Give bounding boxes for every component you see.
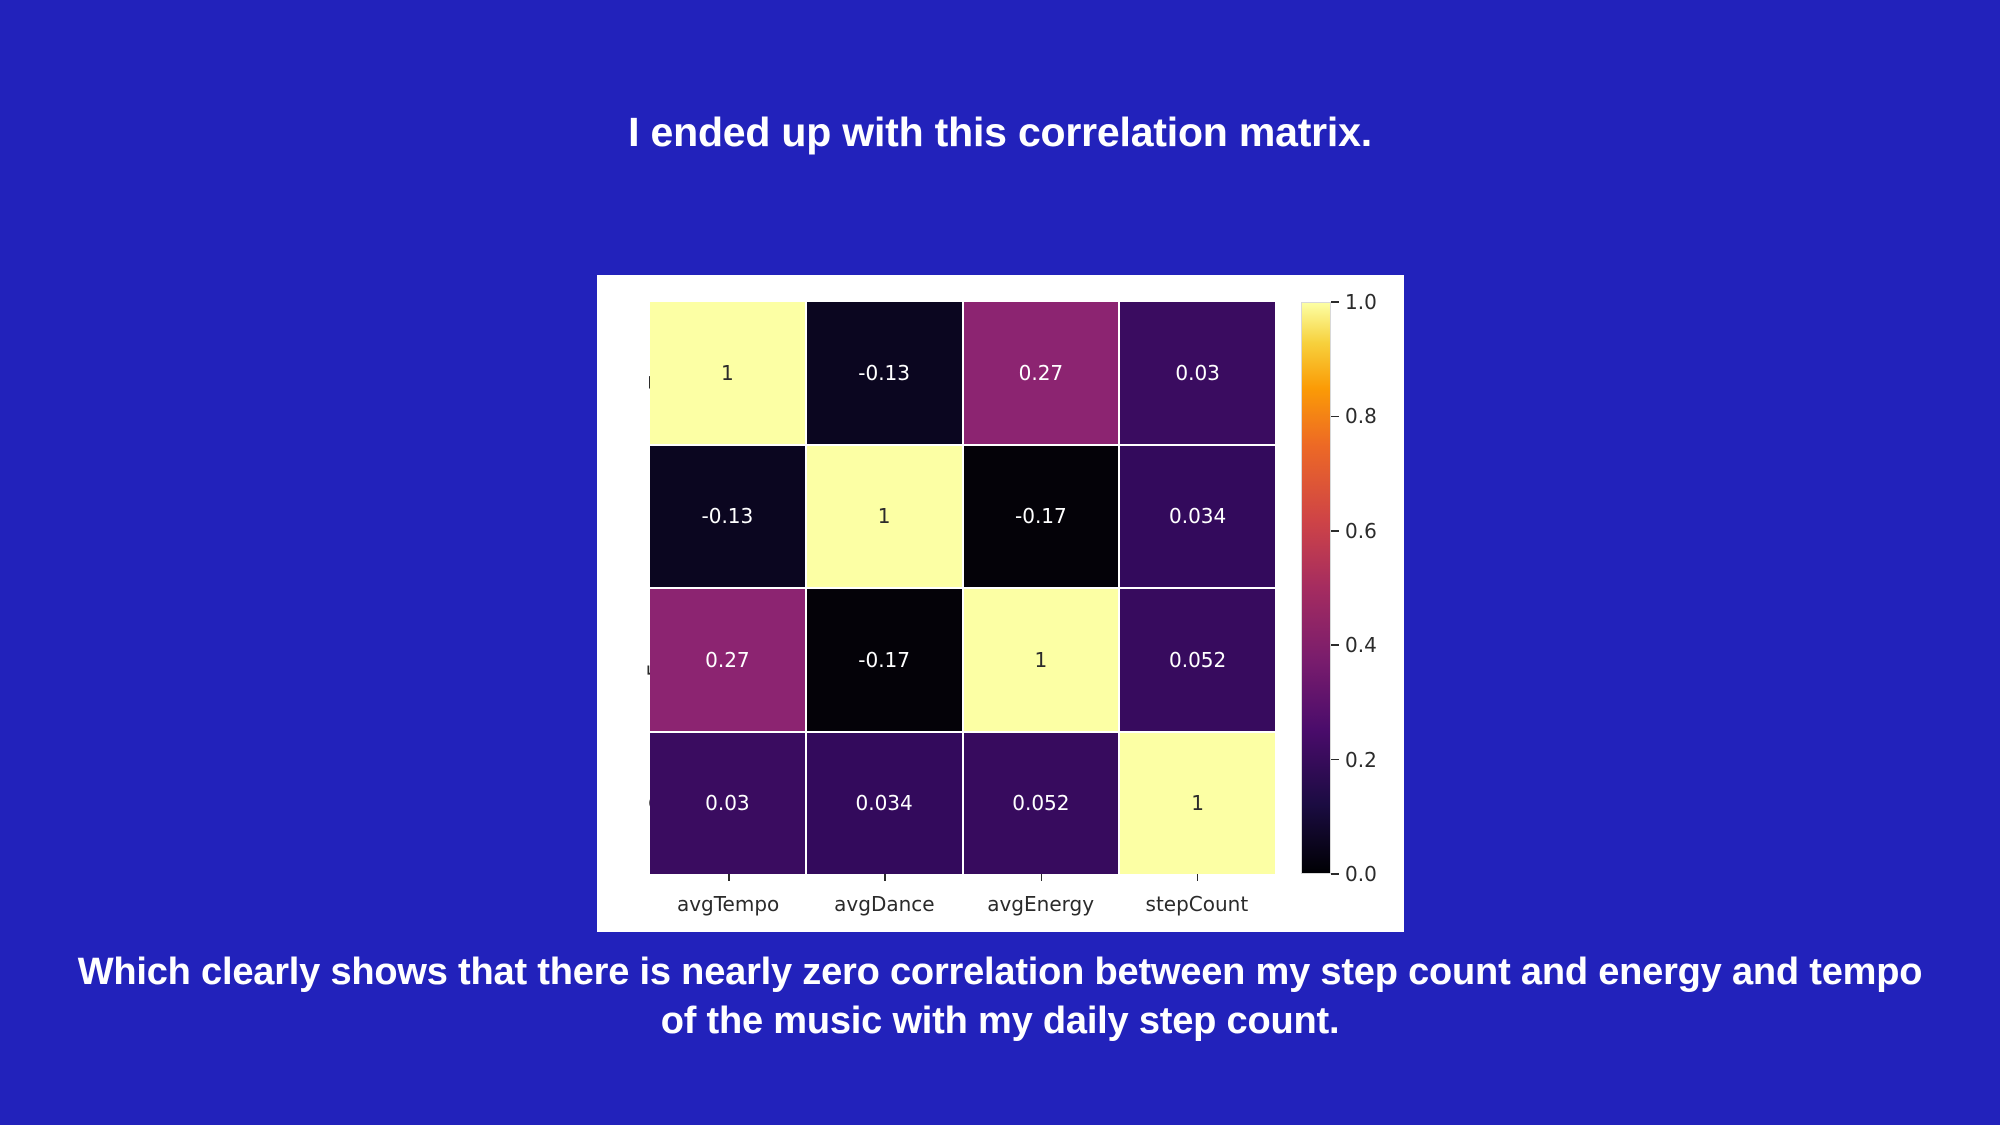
heatmap-cell[interactable]: -0.13 [650,446,805,588]
cell-value: 1 [878,504,891,528]
colorbar-gradient [1301,302,1331,874]
x-tick-mark-0 [728,874,730,881]
colorbar-tick-text-1: 0.8 [1345,404,1377,428]
cell-value: 1 [1191,791,1204,815]
cell-value: 1 [721,361,734,385]
heatmap-cell[interactable]: 0.052 [964,733,1119,875]
cell-value: 0.034 [855,791,912,815]
x-tick-label-2: avgEnergy [963,874,1119,924]
colorbar-tick-5: 0.0 [1331,862,1377,886]
x-axis: avgTempo avgDance avgEnergy stepCount [650,874,1275,924]
cell-value: -0.13 [702,504,754,528]
cell-value: -0.17 [858,648,910,672]
x-tick-text-0: avgTempo [677,892,779,916]
x-tick-text-2: avgEnergy [987,892,1094,916]
heatmap-cell[interactable]: 1 [1120,733,1275,875]
heatmap-cell[interactable]: 0.052 [1120,589,1275,731]
x-tick-mark-1 [884,874,886,881]
heatmap-cell[interactable]: 1 [807,446,962,588]
correlation-matrix-figure: avgTempo avgDance avgEnergy stepCount 1 … [597,275,1404,932]
heatmap-cell[interactable]: 0.03 [650,733,805,875]
cell-value: -0.17 [1015,504,1067,528]
colorbar-tick-mark-0 [1331,301,1339,303]
colorbar-tick-text-3: 0.4 [1345,633,1377,657]
x-tick-label-0: avgTempo [650,874,806,924]
heatmap-cell[interactable]: 0.27 [964,302,1119,444]
x-tick-text-1: avgDance [834,892,934,916]
slide-title: I ended up with this correlation matrix. [440,108,1560,156]
colorbar-tick-text-5: 0.0 [1345,862,1377,886]
heatmap-cell[interactable]: 0.034 [1120,446,1275,588]
colorbar-tick-4: 0.2 [1331,748,1377,772]
heatmap-cell[interactable]: 0.27 [650,589,805,731]
cell-value: 0.052 [1169,648,1226,672]
heatmap-cell[interactable]: 1 [650,302,805,444]
colorbar-tick-1: 0.8 [1331,404,1377,428]
cell-value: 0.034 [1169,504,1226,528]
heatmap-cell[interactable]: -0.17 [807,589,962,731]
slide-caption: Which clearly shows that there is nearly… [60,948,1940,1045]
x-tick-text-3: stepCount [1146,892,1249,916]
colorbar-tick-mark-5 [1331,873,1339,875]
heatmap-cell[interactable]: 1 [964,589,1119,731]
y-axis: avgTempo avgDance avgEnergy stepCount [602,302,646,874]
heatmap-cell[interactable]: 0.034 [807,733,962,875]
colorbar-tick-mark-4 [1331,759,1339,761]
cell-value: 1 [1035,648,1048,672]
x-tick-label-3: stepCount [1119,874,1275,924]
heatmap-cell[interactable]: 0.03 [1120,302,1275,444]
colorbar-tick-mark-1 [1331,416,1339,418]
x-tick-label-1: avgDance [806,874,962,924]
x-tick-mark-2 [1041,874,1043,881]
colorbar-tick-0: 1.0 [1331,290,1377,314]
heatmap-cell[interactable]: -0.13 [807,302,962,444]
colorbar-tick-3: 0.4 [1331,633,1377,657]
colorbar: 1.0 0.8 0.6 0.4 0.2 0.0 [1301,302,1397,874]
colorbar-tick-mark-2 [1331,530,1339,532]
heatmap-plot-area: avgTempo avgDance avgEnergy stepCount 1 … [650,302,1275,874]
cell-value: -0.13 [858,361,910,385]
heatmap-grid: 1 -0.13 0.27 0.03 -0.13 1 -0.17 0.034 0.… [650,302,1275,874]
cell-value: 0.03 [705,791,750,815]
colorbar-tick-mark-3 [1331,644,1339,646]
colorbar-tick-text-4: 0.2 [1345,748,1377,772]
colorbar-ticks: 1.0 0.8 0.6 0.4 0.2 0.0 [1331,302,1397,874]
cell-value: 0.27 [1019,361,1064,385]
heatmap-cell[interactable]: -0.17 [964,446,1119,588]
colorbar-tick-text-2: 0.6 [1345,519,1377,543]
cell-value: 0.27 [705,648,750,672]
colorbar-tick-2: 0.6 [1331,519,1377,543]
cell-value: 0.03 [1175,361,1220,385]
colorbar-tick-text-0: 1.0 [1345,290,1377,314]
cell-value: 0.052 [1012,791,1069,815]
x-tick-mark-3 [1197,874,1199,881]
